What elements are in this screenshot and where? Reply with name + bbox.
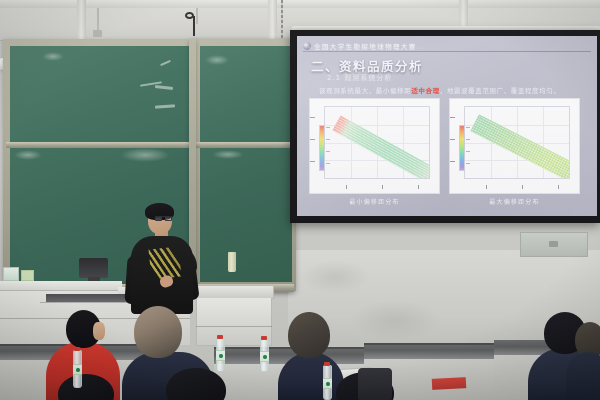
slide-header-subtitle: National Geophysics Exploration Competit… [309, 46, 428, 50]
colorbar-ticks [466, 125, 473, 171]
bottle-label [323, 378, 332, 389]
chalk-smudge [205, 55, 229, 65]
slide-section-number: 2.1 [327, 74, 341, 82]
audience-face [93, 322, 105, 340]
monitor-stand [88, 277, 100, 281]
desk-edge [214, 347, 364, 349]
red-paper [432, 377, 467, 390]
audience-body [566, 352, 600, 400]
axis-tick [418, 185, 419, 189]
bottle-label [260, 351, 269, 362]
slide-body-prefix: 该观测系统最大、最小偏移距 [319, 87, 411, 95]
chalkboard-right-surface [200, 46, 292, 282]
lamp-rod [97, 8, 99, 32]
slide-section-heading: 2.1 观测系统分析 [327, 73, 392, 83]
chart-panel-max-offset [449, 98, 580, 194]
wall-stain [350, 300, 440, 340]
colorbar [319, 125, 325, 171]
bottle-label [216, 350, 225, 361]
projector-screen: 全国大学生勘探地球物理大赛 National Geophysics Explor… [297, 36, 597, 216]
axis-tick [450, 139, 455, 140]
axis-tick [346, 185, 347, 189]
lamp-bracket [93, 30, 102, 37]
sticky-note-pad [21, 270, 34, 281]
swath-stripes-vertical [470, 114, 569, 178]
console-surface-left [0, 281, 122, 291]
chalkboard-middle-rail [6, 142, 196, 148]
ceiling-chain [281, 0, 283, 40]
ceiling-beam [0, 0, 600, 8]
chart-caption-min-offset: 最小偏移距分布 [309, 197, 440, 206]
chart-caption-max-offset: 最大偏移距分布 [449, 197, 580, 206]
wall-stain [300, 260, 370, 294]
colorbar-ticks [326, 125, 333, 171]
plot-area [464, 106, 570, 179]
audience-desk-right [364, 343, 494, 359]
desk-edge [364, 343, 494, 345]
bottle-cap [217, 335, 223, 339]
desk-cup [228, 252, 236, 272]
data-swath-wrap [325, 107, 429, 178]
data-swath-wrap [465, 107, 569, 178]
axis-tick [450, 161, 455, 162]
wall-column-mid [268, 0, 277, 40]
bottle-label [73, 364, 82, 375]
swath-stripes [332, 115, 429, 178]
lecture-hall-screenshot: 全国大学生勘探地球物理大赛 National Geophysics Explor… [0, 0, 600, 400]
slide-body-text: 该观测系统最大、最小偏移距适中合理，地震波覆盖范围广、覆盖程度均匀。 [319, 85, 560, 95]
podium-seam [196, 326, 272, 327]
audience-head [288, 312, 330, 358]
chalk-smudge [14, 150, 42, 160]
chalkboard-middle-rail-right [196, 142, 296, 148]
sweater-graphic-print [149, 247, 182, 280]
bottle-cap [74, 347, 80, 351]
slide-body-suffix: ，地震波覆盖范围广、覆盖程度均匀。 [440, 87, 561, 95]
wall-column-left [77, 0, 86, 40]
offset-swath [470, 114, 569, 178]
tissue-box [3, 267, 19, 281]
chalk-smudge [120, 148, 170, 162]
chart-panel-min-offset [309, 98, 440, 194]
axis-tick [310, 117, 315, 118]
presentation-slide: 全国大学生勘探地球物理大赛 National Geophysics Explor… [297, 36, 597, 216]
axis-tick [382, 185, 383, 189]
audience-head [134, 306, 182, 358]
bottle-cap [261, 336, 267, 340]
axis-tick [310, 161, 315, 162]
microphone-arm [193, 16, 195, 36]
axis-tick [486, 185, 487, 189]
podium-monitor [79, 258, 108, 278]
microphone-icon [185, 12, 194, 19]
bottle-cap [324, 362, 330, 366]
axis-tick [450, 117, 455, 118]
chalk-smudge [212, 150, 244, 159]
chair-back [358, 368, 392, 400]
lamp-rod [196, 8, 198, 24]
speaker-icon [549, 241, 558, 247]
slide-body-highlight: 适中合理 [411, 87, 439, 95]
slide-section-title: 观测系统分析 [344, 74, 392, 82]
glasses-icon [155, 216, 172, 221]
chalk-smudge [42, 52, 64, 61]
axis-tick [522, 185, 523, 189]
offset-swath [332, 115, 429, 178]
axis-tick [558, 185, 559, 189]
colorbar [459, 125, 465, 171]
axis-tick [310, 139, 315, 140]
plot-area [324, 106, 430, 179]
